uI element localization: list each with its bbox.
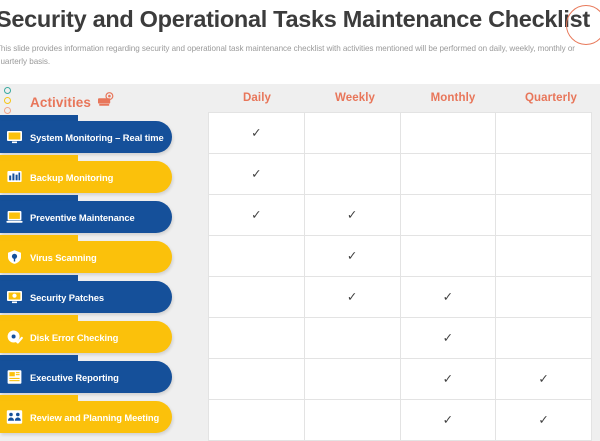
activity-list-item[interactable]: Virus Scanning — [0, 238, 196, 278]
activity-list-item[interactable]: Security Patches — [0, 278, 196, 318]
activity-pill-1[interactable]: System Monitoring – Real time — [0, 121, 172, 153]
activity-list-item[interactable]: Preventive Maintenance — [0, 198, 196, 238]
cell-quarterly-row8[interactable]: ✓ — [496, 400, 592, 441]
dot-ring-teal-icon — [4, 87, 11, 94]
activity-pill-3[interactable]: Preventive Maintenance — [0, 201, 172, 233]
cell-monthly-row4[interactable] — [400, 236, 496, 277]
column-header-quarterly: Quarterly — [502, 92, 600, 104]
activity-list-item[interactable]: Disk Error Checking — [0, 318, 196, 358]
table-column-headers: Daily Weekly Monthly Quarterly — [208, 92, 600, 104]
column-header-weekly: Weekly — [306, 92, 404, 104]
activity-label: System Monitoring – Real time — [30, 132, 164, 143]
table-row: ✓✓ — [209, 400, 592, 441]
activity-pill-5[interactable]: Security Patches — [0, 281, 172, 313]
checkmark-icon: ✓ — [443, 371, 453, 386]
cell-monthly-row3[interactable] — [400, 195, 496, 236]
activities-header: Activities — [30, 92, 115, 113]
checkmark-icon: ✓ — [347, 248, 357, 263]
cell-weekly-row6[interactable] — [304, 318, 400, 359]
activity-pill-7[interactable]: Executive Reporting — [0, 361, 172, 393]
activity-pill-6[interactable]: Disk Error Checking — [0, 321, 172, 353]
cell-weekly-row2[interactable] — [304, 154, 400, 195]
activity-list-item[interactable]: Backup Monitoring — [0, 158, 196, 198]
table-row: ✓✓ — [209, 195, 592, 236]
checkmark-icon: ✓ — [443, 289, 453, 304]
cell-quarterly-row2[interactable] — [496, 154, 592, 195]
cell-weekly-row8[interactable] — [304, 400, 400, 441]
activity-label: Executive Reporting — [30, 372, 119, 383]
cell-quarterly-row1[interactable] — [496, 113, 592, 154]
table-row: ✓ — [209, 113, 592, 154]
cell-daily-row7[interactable] — [209, 359, 305, 400]
activity-list-item[interactable]: System Monitoring – Real time — [0, 118, 196, 158]
cell-quarterly-row4[interactable] — [496, 236, 592, 277]
activity-label: Review and Planning Meeting — [30, 412, 159, 423]
activity-pill-4[interactable]: Virus Scanning — [0, 241, 172, 273]
cell-daily-row5[interactable] — [209, 277, 305, 318]
cell-monthly-row2[interactable] — [400, 154, 496, 195]
cell-daily-row4[interactable] — [209, 236, 305, 277]
checkmark-icon: ✓ — [251, 125, 261, 140]
cell-quarterly-row3[interactable] — [496, 195, 592, 236]
decorative-circle-icon — [566, 5, 600, 45]
cell-daily-row6[interactable] — [209, 318, 305, 359]
activity-label: Preventive Maintenance — [30, 212, 135, 223]
dot-ring-orange-icon — [4, 107, 11, 114]
cell-daily-row8[interactable] — [209, 400, 305, 441]
column-header-daily: Daily — [208, 92, 306, 104]
activity-list-item[interactable]: Review and Planning Meeting — [0, 398, 196, 438]
cell-monthly-row8[interactable]: ✓ — [400, 400, 496, 441]
dot-ring-yellow-icon — [4, 97, 11, 104]
cell-monthly-row1[interactable] — [400, 113, 496, 154]
table-row: ✓✓ — [209, 277, 592, 318]
checkmark-icon: ✓ — [443, 330, 453, 345]
cell-quarterly-row6[interactable] — [496, 318, 592, 359]
activity-label: Security Patches — [30, 292, 104, 303]
cell-daily-row1[interactable]: ✓ — [209, 113, 305, 154]
cell-weekly-row7[interactable] — [304, 359, 400, 400]
cell-weekly-row1[interactable] — [304, 113, 400, 154]
cell-monthly-row7[interactable]: ✓ — [400, 359, 496, 400]
activity-label: Backup Monitoring — [30, 172, 113, 183]
checkmark-icon: ✓ — [347, 207, 357, 222]
cell-quarterly-row7[interactable]: ✓ — [496, 359, 592, 400]
cell-weekly-row4[interactable]: ✓ — [304, 236, 400, 277]
cell-monthly-row6[interactable]: ✓ — [400, 318, 496, 359]
page-subtitle: This slide provides information regardin… — [0, 42, 596, 68]
activity-pill-8[interactable]: Review and Planning Meeting — [0, 401, 172, 433]
activities-label: Activities — [30, 95, 91, 110]
activity-list-item[interactable]: Executive Reporting — [0, 358, 196, 398]
checkmark-icon: ✓ — [251, 166, 261, 181]
column-header-monthly: Monthly — [404, 92, 502, 104]
cell-quarterly-row5[interactable] — [496, 277, 592, 318]
cell-daily-row2[interactable]: ✓ — [209, 154, 305, 195]
projector-icon — [97, 92, 115, 113]
cell-daily-row3[interactable]: ✓ — [209, 195, 305, 236]
cell-monthly-row5[interactable]: ✓ — [400, 277, 496, 318]
checkmark-icon: ✓ — [347, 289, 357, 304]
checklist-table: ✓✓✓✓✓✓✓✓✓✓✓✓ — [208, 112, 592, 441]
page-title: Security and Operational Tasks Maintenan… — [0, 2, 576, 36]
checkmark-icon: ✓ — [443, 412, 453, 427]
table-row: ✓ — [209, 236, 592, 277]
checkmark-icon: ✓ — [538, 412, 548, 427]
activity-list: System Monitoring – Real time Backup Mon… — [0, 118, 196, 438]
table-row: ✓ — [209, 318, 592, 359]
cell-weekly-row5[interactable]: ✓ — [304, 277, 400, 318]
checkmark-icon: ✓ — [538, 371, 548, 386]
activity-pill-2[interactable]: Backup Monitoring — [0, 161, 172, 193]
table-row: ✓ — [209, 154, 592, 195]
activity-label: Disk Error Checking — [30, 332, 118, 343]
table-row: ✓✓ — [209, 359, 592, 400]
activity-label: Virus Scanning — [30, 252, 97, 263]
checkmark-icon: ✓ — [251, 207, 261, 222]
cell-weekly-row3[interactable]: ✓ — [304, 195, 400, 236]
